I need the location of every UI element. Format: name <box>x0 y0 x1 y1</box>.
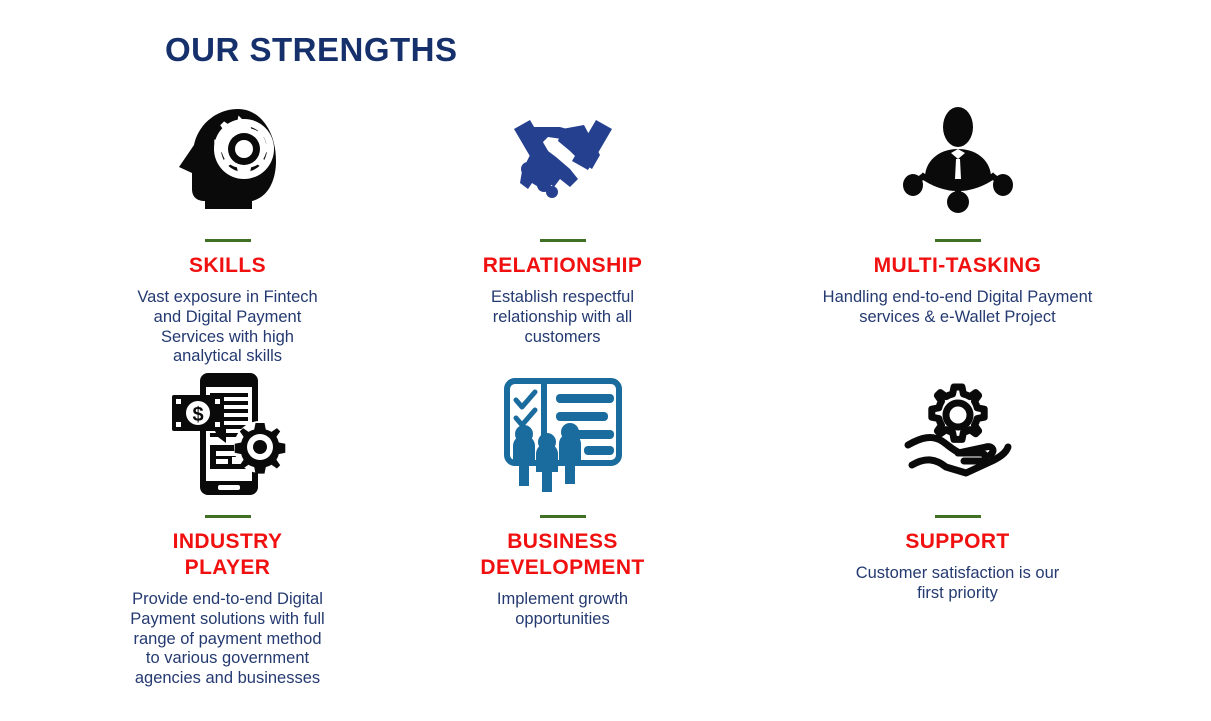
card-heading: RELATIONSHIP <box>483 253 643 279</box>
card-heading: INDUSTRY PLAYER <box>143 529 313 582</box>
card-body: Establish respectful relationship with a… <box>455 288 670 347</box>
card-body: Customer satisfaction is our first prior… <box>850 564 1065 603</box>
strengths-row-2: $ INDUSTRY PLAYER Provide en <box>0 372 1211 689</box>
handshake-icon <box>500 96 626 221</box>
mobile-payment-gear-icon: $ <box>170 372 286 497</box>
card-body: Implement growth opportunities <box>455 590 670 629</box>
hand-holding-gear-icon <box>902 372 1014 497</box>
card-divider <box>205 515 251 518</box>
strength-card-support: SUPPORT Customer satisfaction is our fir… <box>790 372 1125 604</box>
strength-card-skills: SKILLS Vast exposure in Fintech and Digi… <box>60 96 395 367</box>
presentation-board-people-icon <box>502 372 624 497</box>
card-heading: SKILLS <box>189 253 266 279</box>
card-heading: SUPPORT <box>905 529 1009 555</box>
strengths-row-1: SKILLS Vast exposure in Fintech and Digi… <box>0 96 1211 367</box>
card-heading: MULTI-TASKING <box>874 253 1042 279</box>
head-with-gear-icon <box>176 96 280 221</box>
page-title: OUR STRENGTHS <box>165 31 458 69</box>
card-body: Vast exposure in Fintech and Digital Pay… <box>125 288 330 367</box>
strengths-grid: SKILLS Vast exposure in Fintech and Digi… <box>0 96 1211 688</box>
card-divider <box>540 515 586 518</box>
card-divider <box>540 239 586 242</box>
strengths-slide: OUR STRENGTHS <box>0 0 1211 721</box>
card-heading: BUSINESS DEVELOPMENT <box>463 529 663 582</box>
card-body: Handling end-to-end Digital Payment serv… <box>808 288 1108 327</box>
card-divider <box>935 515 981 518</box>
card-divider <box>935 239 981 242</box>
strength-card-relationship: RELATIONSHIP Establish respectful relati… <box>395 96 730 347</box>
card-divider <box>205 239 251 242</box>
card-body: Provide end-to-end Digital Payment solut… <box>125 590 330 688</box>
strength-card-industry-player: $ INDUSTRY PLAYER Provide en <box>60 372 395 689</box>
svg-text:$: $ <box>192 404 203 426</box>
strength-card-business-development: BUSINESS DEVELOPMENT Implement growth op… <box>395 372 730 630</box>
person-network-icon <box>903 96 1013 221</box>
strength-card-multi-tasking: MULTI-TASKING Handling end-to-end Digita… <box>790 96 1125 328</box>
